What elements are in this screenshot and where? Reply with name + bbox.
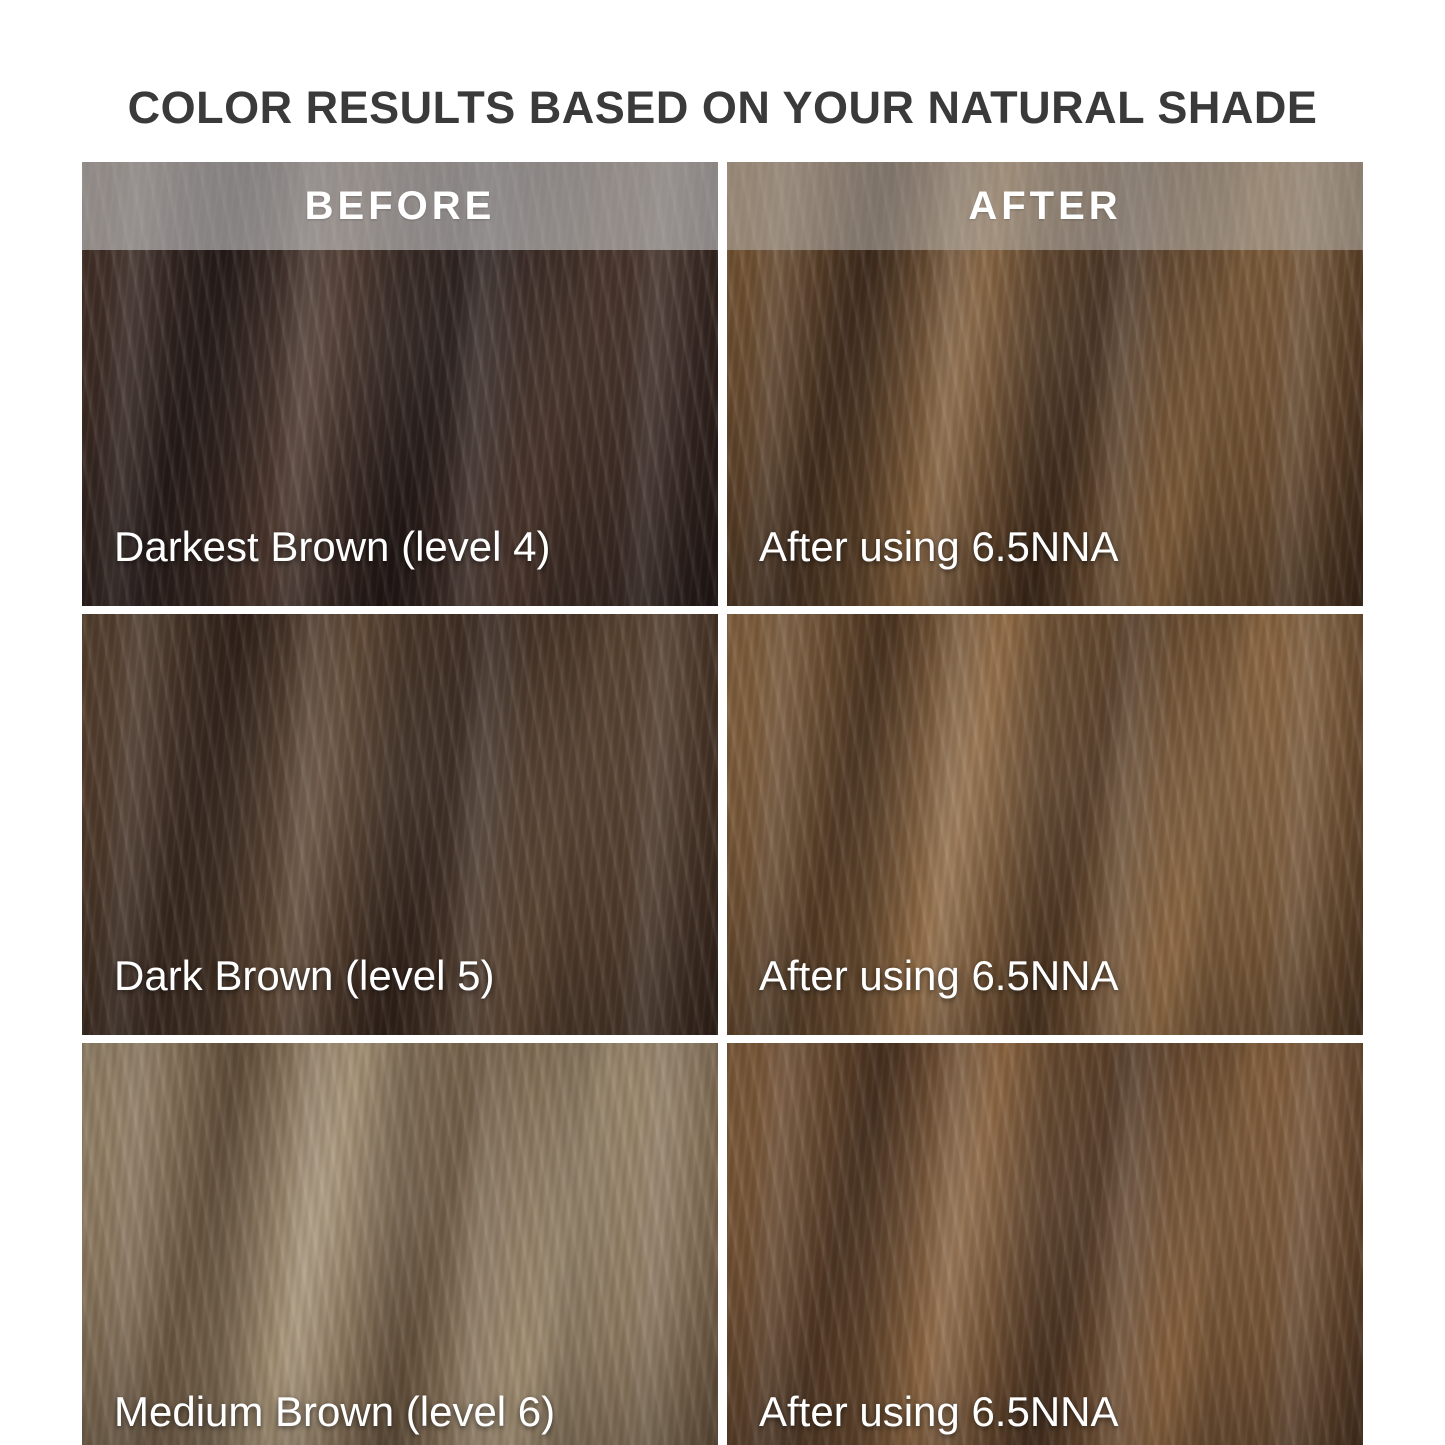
- cell-before-row1[interactable]: BEFORE Darkest Brown (level 4): [82, 162, 718, 606]
- column-header-after: AFTER: [968, 183, 1121, 229]
- column-after: AFTER After using 6.5NNA After using 6.5…: [727, 162, 1363, 1445]
- caption-after-row1: After using 6.5NNA: [759, 522, 1119, 572]
- cell-after-row3[interactable]: After using 6.5NNA: [727, 1043, 1363, 1445]
- caption-before-row1: Darkest Brown (level 4): [114, 522, 550, 572]
- header-band-before: BEFORE: [82, 162, 718, 250]
- comparison-page: COLOR RESULTS BASED ON YOUR NATURAL SHAD…: [0, 0, 1445, 1445]
- hair-swatch-after-row3: [727, 1043, 1363, 1445]
- page-title: COLOR RESULTS BASED ON YOUR NATURAL SHAD…: [0, 80, 1445, 136]
- column-header-before: BEFORE: [305, 183, 496, 229]
- caption-before-row3: Medium Brown (level 6): [114, 1387, 555, 1437]
- hair-swatch-medium-brown: [82, 1043, 718, 1445]
- header-band-after: AFTER: [727, 162, 1363, 250]
- column-before: BEFORE Darkest Brown (level 4) Dark Brow…: [82, 162, 718, 1445]
- caption-before-row2: Dark Brown (level 5): [114, 951, 494, 1001]
- cell-before-row3[interactable]: Medium Brown (level 6): [82, 1043, 718, 1445]
- caption-after-row3: After using 6.5NNA: [759, 1387, 1119, 1437]
- cell-after-row1[interactable]: AFTER After using 6.5NNA: [727, 162, 1363, 606]
- before-after-grid: BEFORE Darkest Brown (level 4) Dark Brow…: [82, 162, 1363, 1445]
- caption-after-row2: After using 6.5NNA: [759, 951, 1119, 1001]
- cell-after-row2[interactable]: After using 6.5NNA: [727, 614, 1363, 1035]
- cell-before-row2[interactable]: Dark Brown (level 5): [82, 614, 718, 1035]
